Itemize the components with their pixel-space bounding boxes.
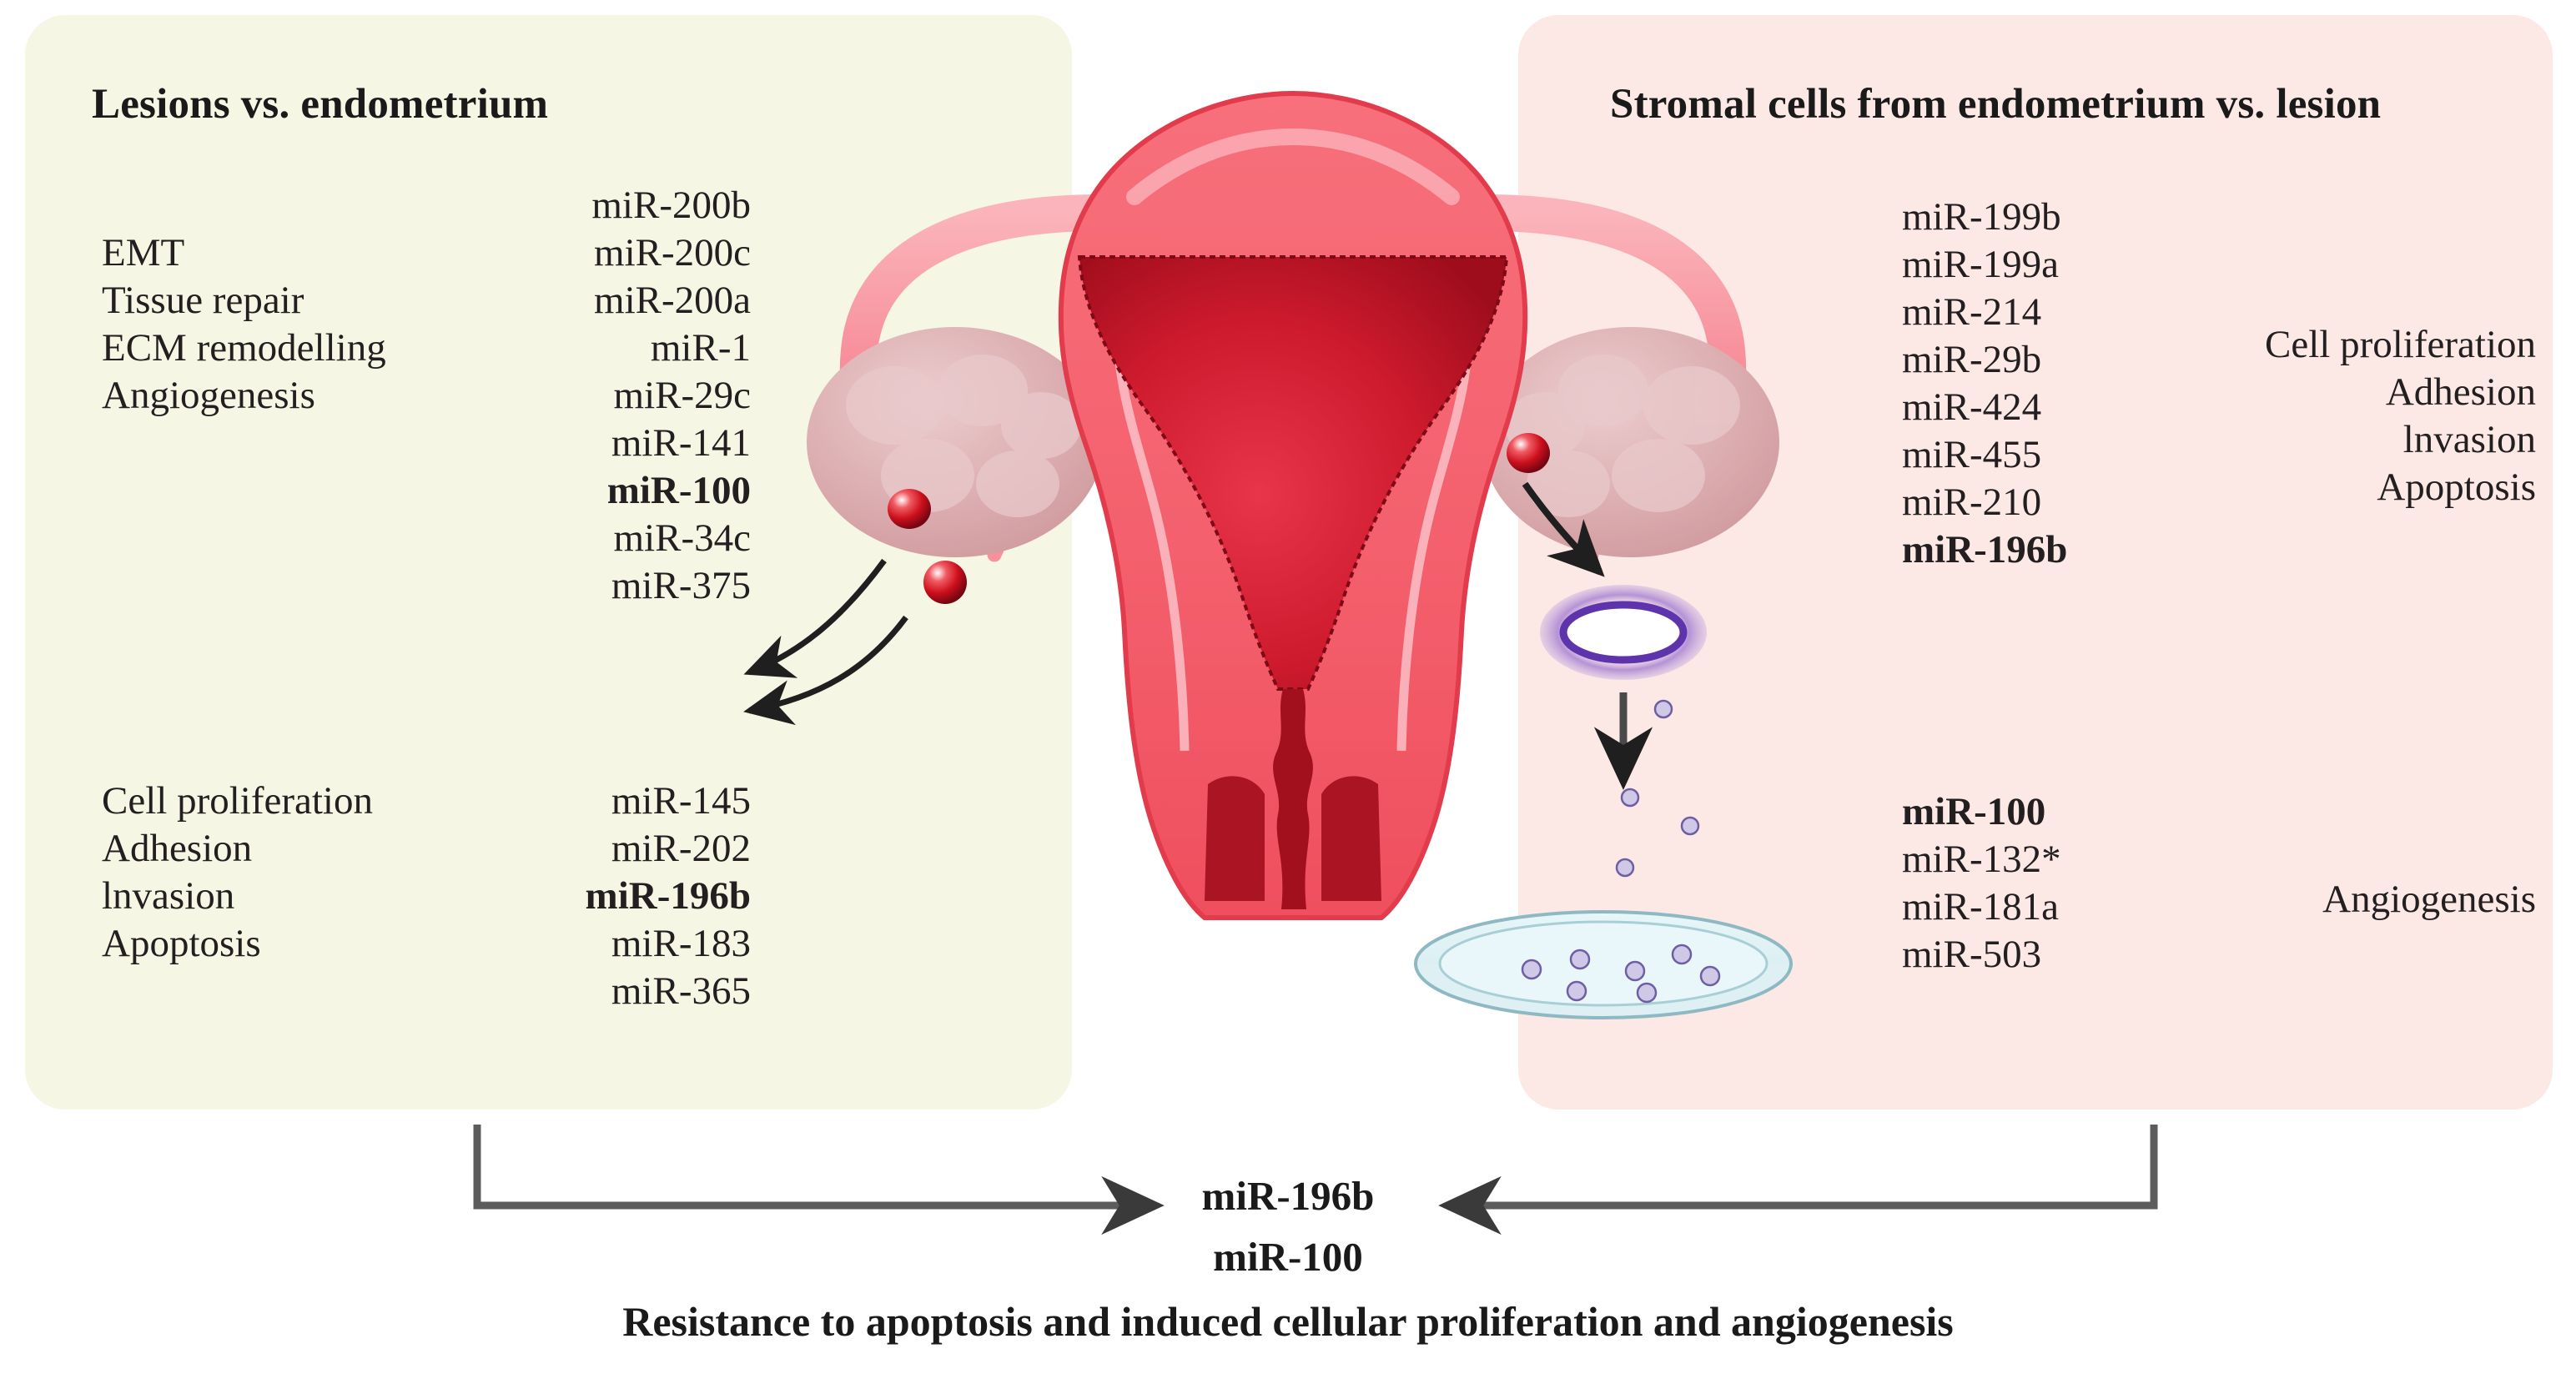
mirna-item: miR-455 [1902,431,2177,479]
mirna-item: miR-200c [467,229,751,277]
mirna-item: miR-200a [467,277,751,325]
diagram-canvas: Lesions vs. endometrium EMT Tissue repai… [0,0,2576,1389]
list-item: Apoptosis [2186,464,2536,511]
right-functions-top-list: Cell proliferation Adhesion lnvasion Apo… [2186,321,2536,511]
uterus-body [1061,93,1526,918]
mirna-item: miR-181a [1902,883,2177,931]
summary-conclusion: Resistance to apoptosis and induced cell… [0,1297,2576,1346]
mirna-item: miR-199b [1902,194,2177,241]
lesion-sphere-left-free [923,561,967,604]
mirna-item-highlighted: miR-196b [1902,526,2177,574]
mirna-item: miR-200b [467,182,751,229]
cultured-cells [1617,701,1698,876]
mirna-item: miR-183 [467,920,751,968]
list-item: lnvasion [2186,416,2536,464]
mirna-item: miR-145 [467,778,751,825]
mirna-item: miR-375 [467,562,751,610]
mirna-item: miR-141 [467,420,751,467]
mirna-item: miR-214 [1902,289,2177,336]
list-item: Tissue repair [102,277,452,325]
list-item: Cell proliferation [2186,321,2536,369]
curved-arrow-1 [749,561,884,672]
list-item: Adhesion [2186,369,2536,416]
list-item: Cell proliferation [102,778,469,825]
uterus-illustration [742,33,1844,1110]
left-panel-title: Lesions vs. endometrium [92,80,548,128]
mirna-item: miR-424 [1902,384,2177,431]
left-mirna-bottom-list: miR-145 miR-202 miR-196b miR-183 miR-365 [467,778,751,1015]
petri-dish [1416,912,1791,1018]
left-functions-bottom-list: Cell proliferation Adhesion lnvasion Apo… [102,778,469,968]
right-mirna-bottom-list: miR-100 miR-132* miR-181a miR-503 [1902,788,2177,979]
right-mirna-top-list: miR-199b miR-199a miR-214 miR-29b miR-42… [1902,194,2177,574]
left-mirna-top-list: miR-200b miR-200c miR-200a miR-1 miR-29c… [467,182,751,610]
mirna-item: miR-34c [467,515,751,562]
mirna-item: miR-365 [467,968,751,1015]
list-item: Angiogenesis [2186,876,2536,923]
mirna-item: miR-210 [1902,479,2177,526]
tissue-ring [1540,585,1707,680]
summary-mirna-100: miR-100 [0,1233,2576,1281]
list-item: lnvasion [102,873,469,920]
left-ovary [807,327,1104,557]
mirna-item-highlighted: miR-196b [467,873,751,920]
mirna-item: miR-132* [1902,836,2177,883]
mirna-item-highlighted: miR-100 [1902,788,2177,836]
mirna-item-highlighted: miR-100 [467,467,751,515]
list-item: EMT [102,229,452,277]
list-item: Angiogenesis [102,372,452,420]
mirna-item: miR-503 [1902,931,2177,979]
lesion-sphere-left-on-ovary [888,489,931,529]
mirna-item: miR-29c [467,372,751,420]
summary-mirna-196b: miR-196b [0,1172,2576,1220]
right-functions-bottom-list: Angiogenesis [2186,876,2536,923]
list-item: Adhesion [102,825,469,873]
list-item: Apoptosis [102,920,469,968]
mirna-item: miR-202 [467,825,751,873]
left-functions-top-list: EMT Tissue repair ECM remodelling Angiog… [102,229,452,420]
mirna-item: miR-199a [1902,241,2177,289]
mirna-item: miR-1 [467,325,751,372]
lesion-sphere-right-on-ovary [1507,433,1550,473]
list-item: ECM remodelling [102,325,452,372]
mirna-item: miR-29b [1902,336,2177,384]
right-ovary [1482,327,1779,557]
